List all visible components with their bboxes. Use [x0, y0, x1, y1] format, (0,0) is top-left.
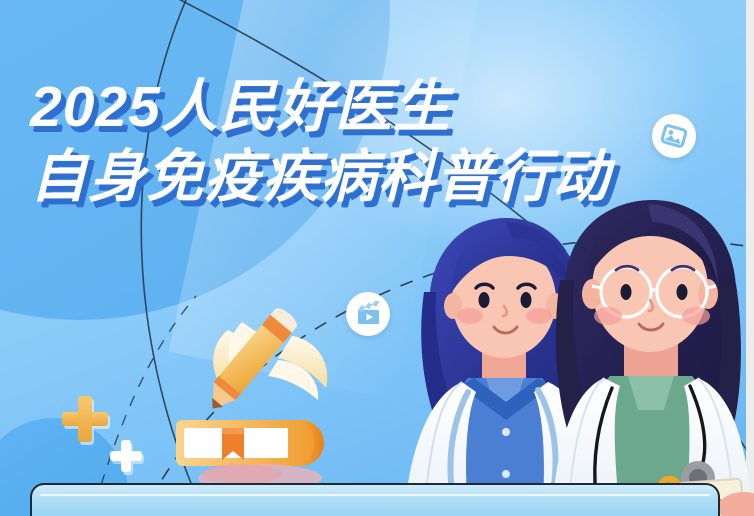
plus-white-decoration — [110, 440, 142, 472]
video-icon[interactable] — [346, 292, 390, 336]
desk-counter — [30, 483, 720, 516]
doctor-right — [552, 200, 754, 516]
pencil-book-illustration — [150, 300, 360, 500]
photo-icon-glyph — [658, 120, 690, 152]
doctors-illustration — [396, 196, 754, 516]
plus-gold-decoration — [62, 396, 108, 442]
video-icon-glyph — [355, 301, 382, 328]
campaign-banner: 2025人民好医生 自身免疫疾病科普行动 — [0, 0, 754, 516]
banner-headline: 2025人民好医生 自身免疫疾病科普行动 — [30, 78, 610, 206]
headline-line-1: 2025人民好医生 — [30, 78, 610, 136]
